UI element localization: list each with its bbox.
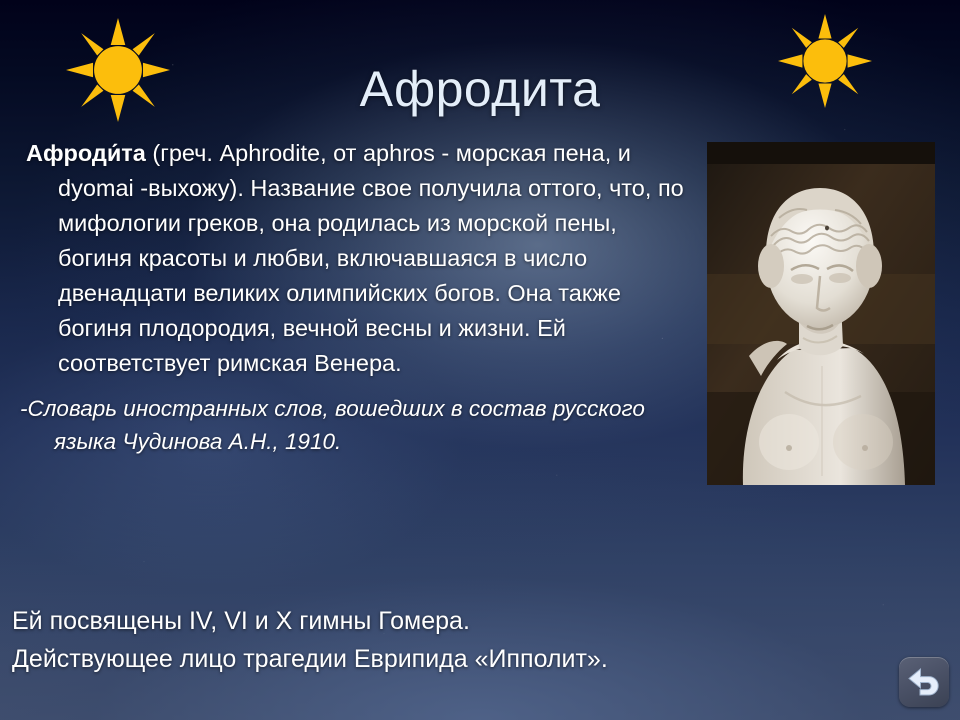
definition-text: (греч. Aphrodite, от aphros - морская пе…	[58, 140, 684, 376]
notes-block: Ей посвящены IV, VI и X гимны Гомера. Де…	[12, 602, 912, 678]
notes-line-1: Ей посвящены IV, VI и X гимны Гомера.	[12, 602, 912, 640]
definition-lead-word: Афроди́та	[26, 140, 146, 166]
source-citation: -Словарь иностранных слов, вошедших в со…	[12, 392, 684, 458]
statue-illustration	[707, 142, 935, 485]
definition-block: Афроди́та (греч. Aphrodite, от aphros - …	[12, 136, 684, 458]
slide: Афродита Афроди́та (греч. Aphrodite, от …	[0, 0, 960, 720]
definition-paragraph: Афроди́та (греч. Aphrodite, от aphros - …	[12, 136, 684, 381]
page-title: Афродита	[0, 60, 960, 118]
back-button[interactable]	[899, 657, 949, 707]
back-arrow-icon	[907, 667, 941, 697]
notes-line-2: Действующее лицо трагедии Еврипида «Иппо…	[12, 640, 912, 678]
aphrodite-statue-image	[707, 142, 935, 485]
